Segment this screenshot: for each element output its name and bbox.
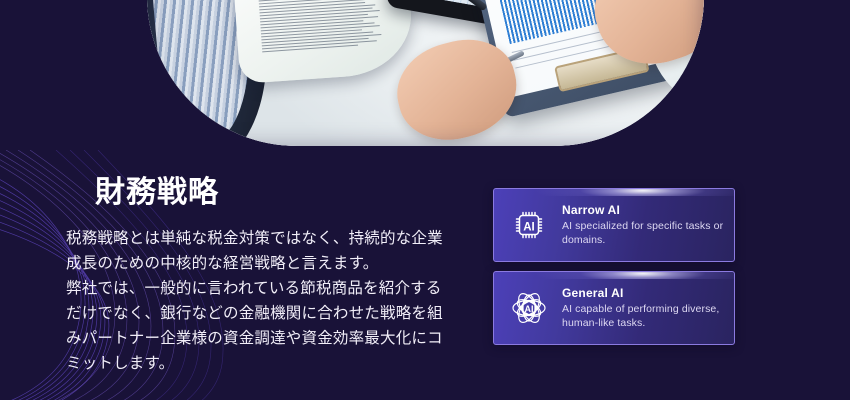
card-narrow-ai[interactable]: AI Narrow AI AI specialized for specific… <box>493 188 735 262</box>
body-copy: 税務戦略とは単純な税金対策ではなく、持続的な企業成長のための中核的な経営戦略と言… <box>66 226 456 376</box>
ai-atom-icon: AI <box>506 285 552 331</box>
page-title: 財務戦略 <box>95 176 219 209</box>
hero-image <box>147 0 704 146</box>
page-root: 財務戦略 税務戦略とは単純な税金対策ではなく、持続的な企業成長のための中核的な経… <box>0 0 850 400</box>
card-description: AI specialized for specific tasks or dom… <box>562 220 724 247</box>
card-description: AI capable of performing diverse, human-… <box>562 303 724 330</box>
svg-text:AI: AI <box>523 221 535 233</box>
card-text: General AI AI capable of performing dive… <box>562 286 724 330</box>
ai-type-card-list: AI Narrow AI AI specialized for specific… <box>493 188 735 345</box>
ai-chip-icon: AI <box>506 202 552 248</box>
hero-image-content <box>147 0 704 146</box>
card-general-ai[interactable]: AI General AI AI capable of performing d… <box>493 271 735 345</box>
card-title: Narrow AI <box>562 203 724 217</box>
body-paragraph-1: 税務戦略とは単純な税金対策ではなく、持続的な企業成長のための中核的な経営戦略と言… <box>66 226 456 276</box>
card-title: General AI <box>562 286 724 300</box>
body-paragraph-2: 弊社では、一般的に言われている節税商品を紹介するだけでなく、銀行などの金融機関に… <box>66 276 456 376</box>
svg-text:AI: AI <box>525 304 534 314</box>
card-text: Narrow AI AI specialized for specific ta… <box>562 203 724 247</box>
